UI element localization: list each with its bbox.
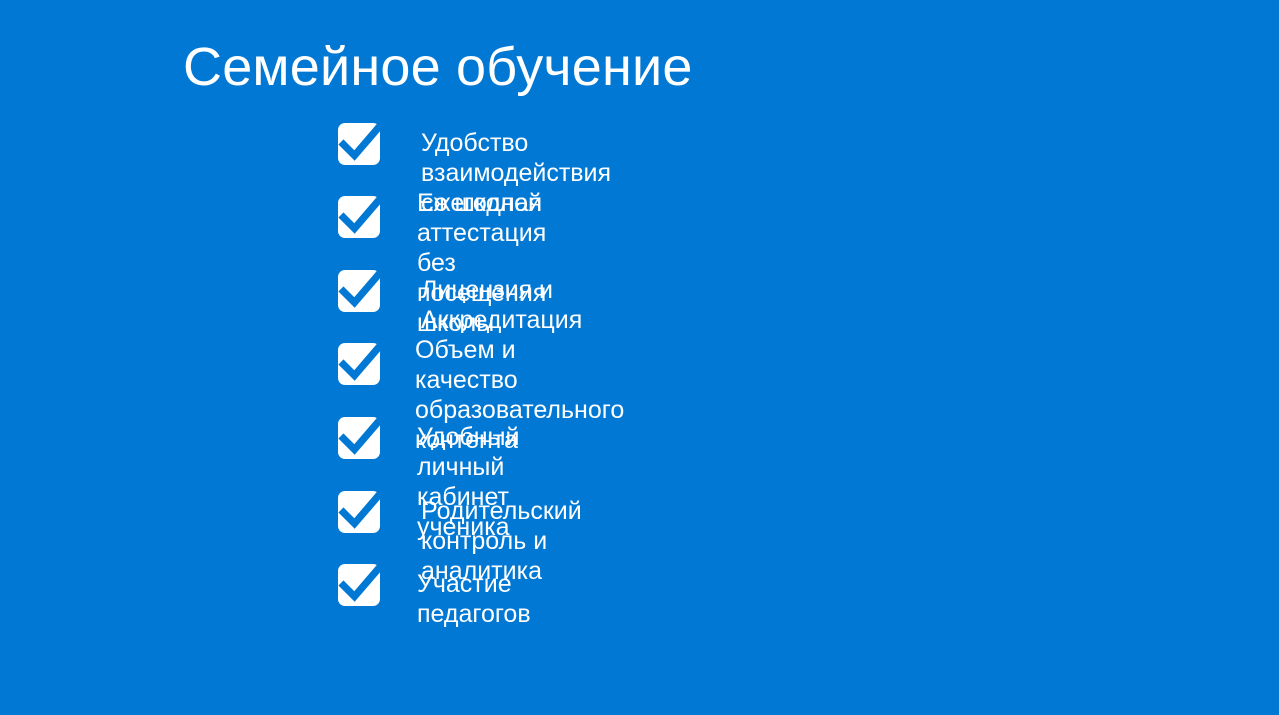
checkbox-checked-icon[interactable] (337, 563, 381, 607)
checkbox-checked-icon[interactable] (337, 122, 381, 166)
checkbox-checked-icon[interactable] (337, 342, 381, 386)
feature-checklist: Удобство взаимодействия со школой Ежегод… (0, 0, 1279, 715)
presentation-slide: Семейное обучение Удобство взаимодействи… (0, 0, 1279, 715)
checkbox-checked-icon[interactable] (337, 416, 381, 460)
list-item-label: Участие педагогов (417, 569, 531, 629)
checkbox-checked-icon[interactable] (337, 195, 381, 239)
list-item-label: Лицензия и Аккредитация (421, 275, 582, 335)
checkbox-checked-icon[interactable] (337, 490, 381, 534)
checkbox-checked-icon[interactable] (337, 269, 381, 313)
